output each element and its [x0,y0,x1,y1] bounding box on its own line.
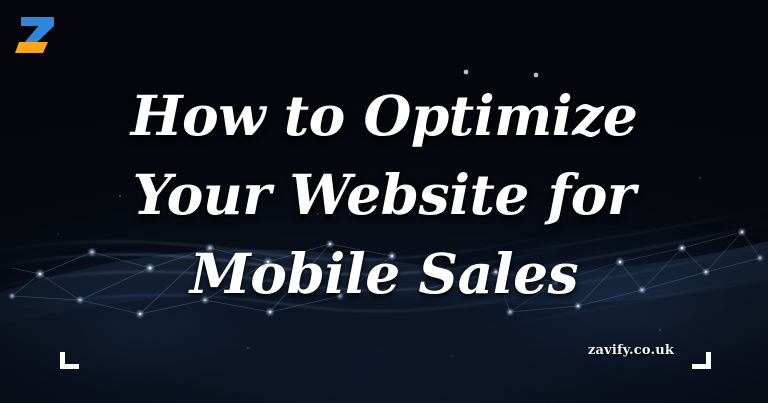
headline-line-1: How to Optimize [54,76,714,155]
bracket-left-horizontal [60,364,79,369]
site-watermark: zavify.co.uk [0,343,768,358]
z-letter-icon [13,12,61,58]
corner-bracket-bottom-left [60,352,79,369]
blog-banner: Z How to Optimize Your Website for Mobil… [0,0,768,403]
corner-bracket-bottom-right [692,352,711,369]
zavify-logo[interactable]: Z [13,12,61,58]
page-title: How to Optimize Your Website for Mobile … [0,76,768,313]
bracket-right-horizontal [692,364,711,369]
headline-line-2: Your Website for [54,155,714,234]
headline-line-3: Mobile Sales [54,234,714,313]
